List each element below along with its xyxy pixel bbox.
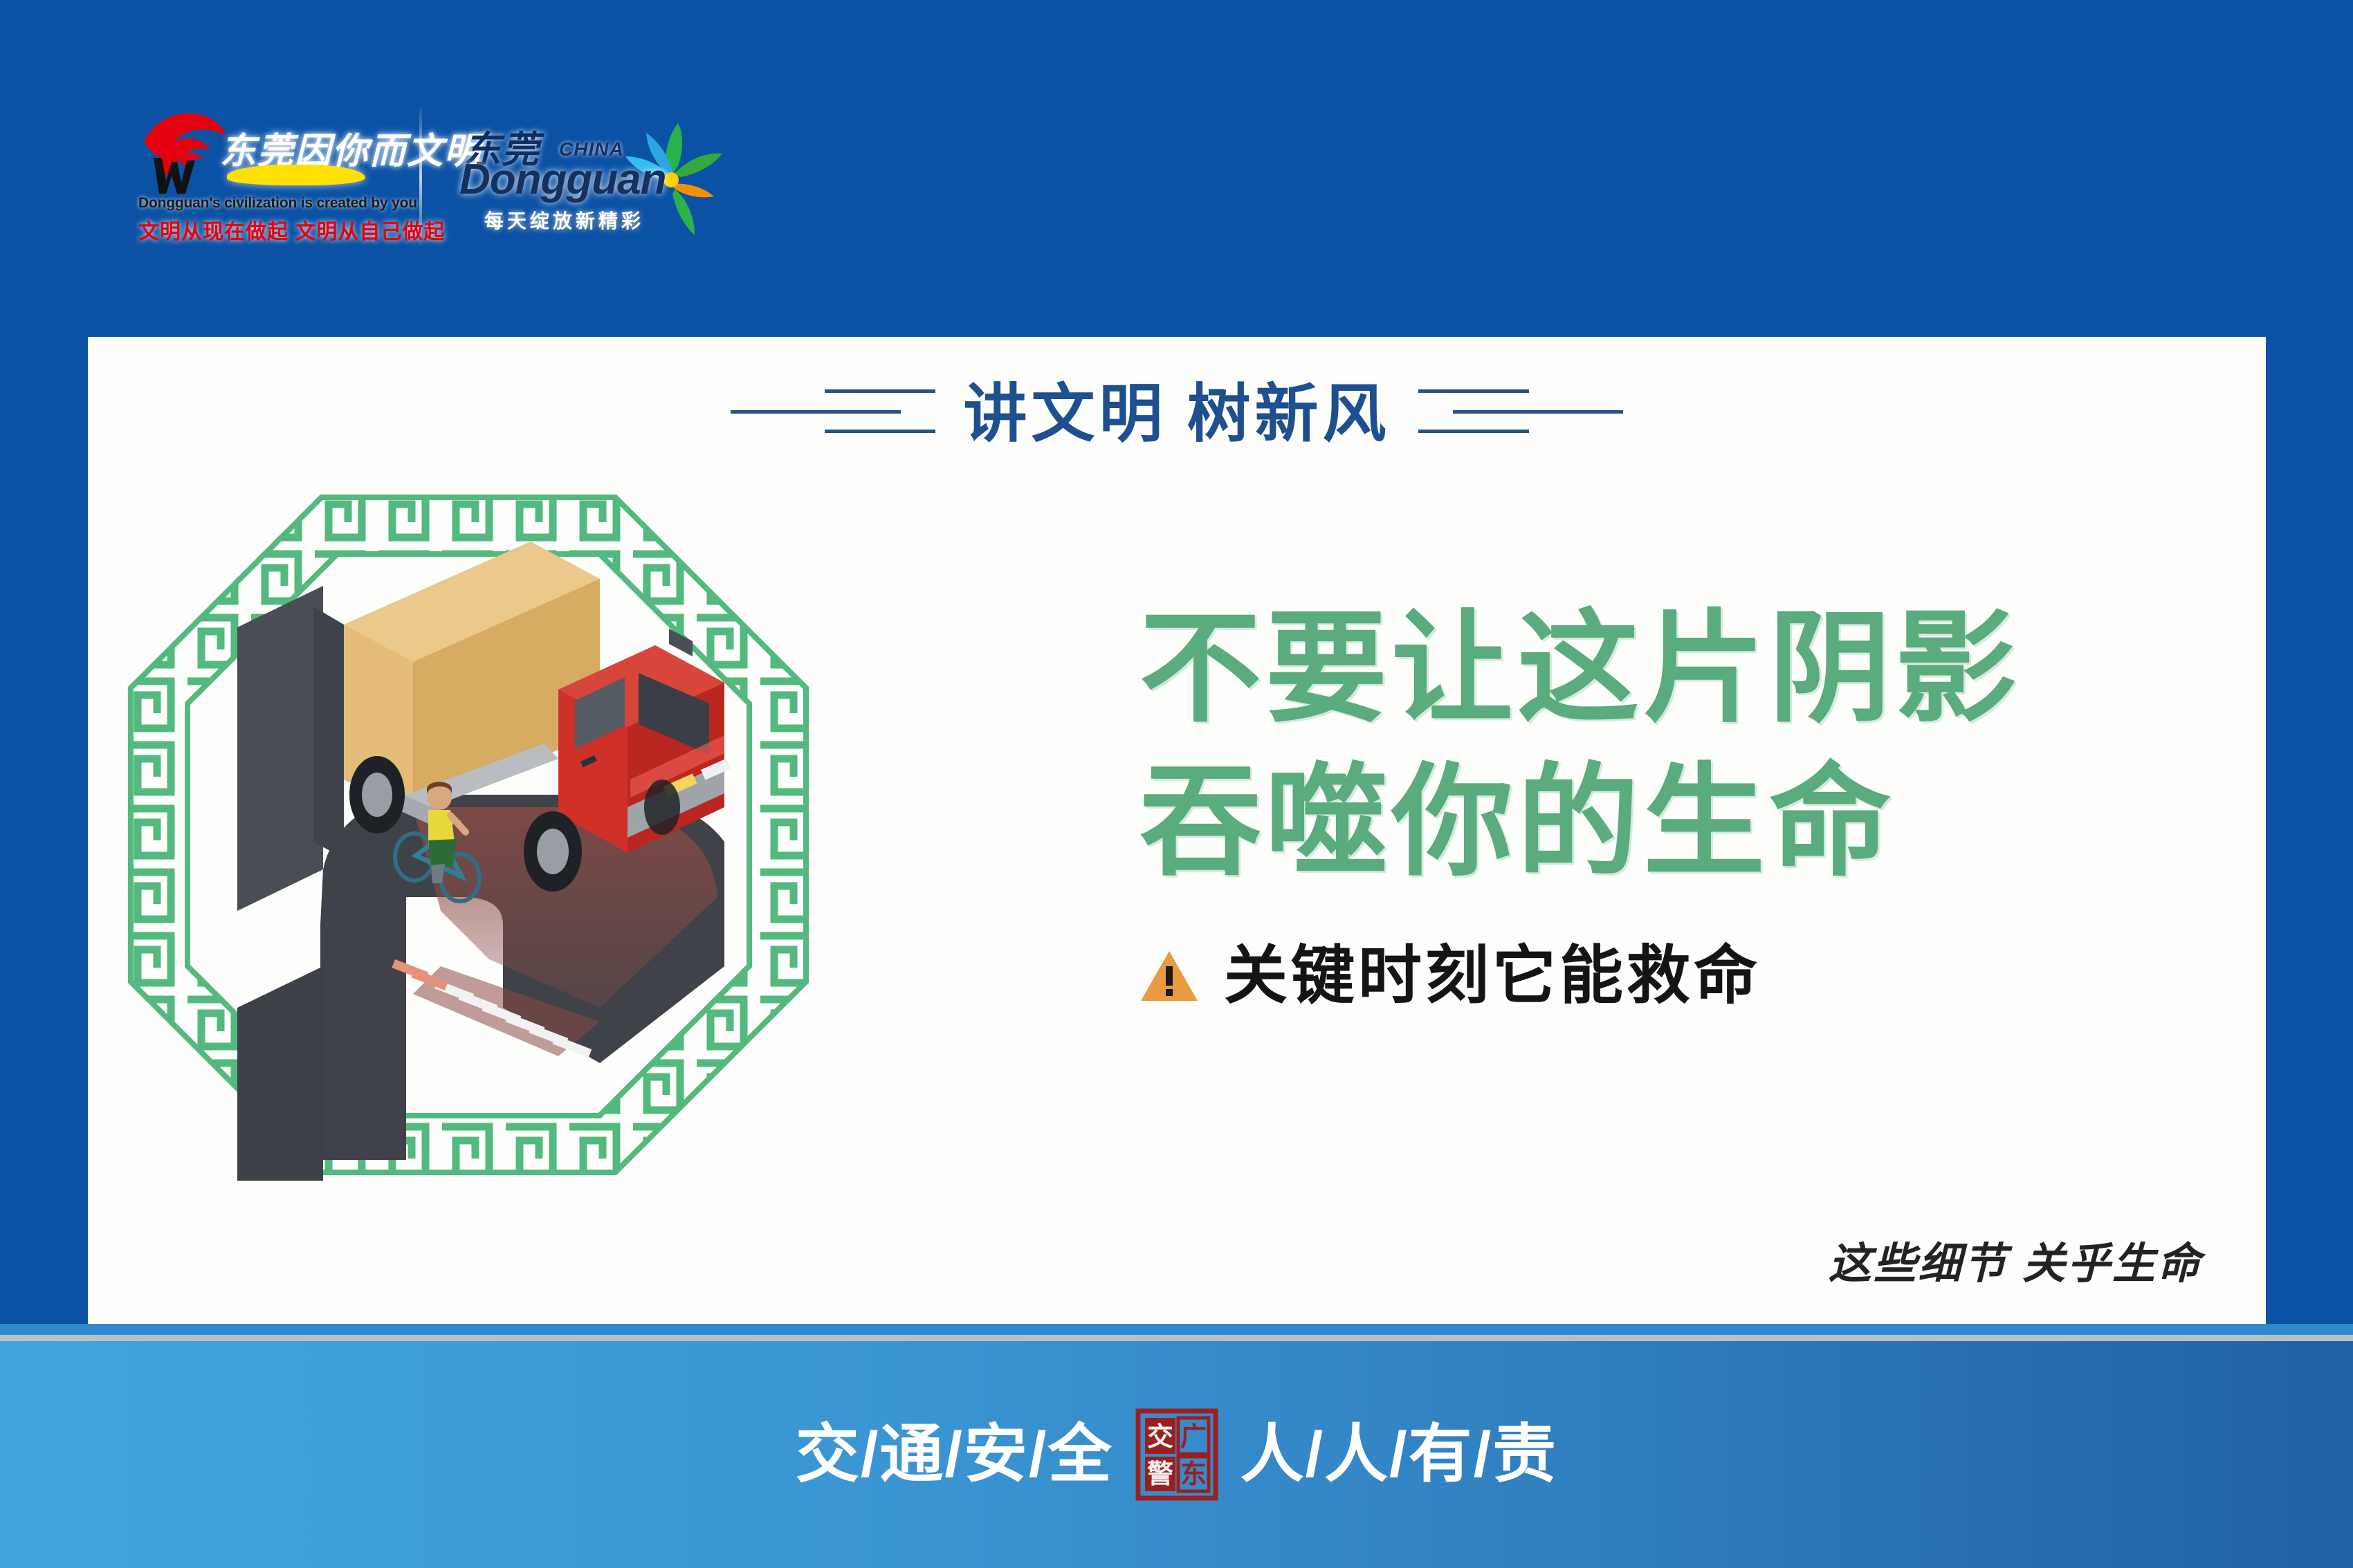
dongguan-civilization-logo: 东莞因你而文明 Dongguan's civilization is creat… [138,104,387,249]
wm-ribbon-mark-icon [138,107,228,196]
header-logo-bar: 东莞因你而文明 Dongguan's civilization is creat… [138,97,717,256]
warning-triangle-icon [1139,948,1199,1004]
panel-footnote: 这些细节 关乎生命 [1829,1228,2202,1291]
seal-cell-4: 东 [1180,1460,1206,1489]
civilization-chinese-tagline: 文明从现在做起 文明从自己做起 [138,214,387,245]
banner-right-text: 人/人/有/责 [1240,1423,1558,1486]
road-slab-lower [237,966,323,1181]
truck-blind-spot-illustration [116,482,821,1188]
subline-row: 关键时刻它能救命 [1139,944,2219,1008]
headline-line-2: 吞噬你的生命 [1139,746,2219,900]
poster-root: 东莞因你而文明 Dongguan's civilization is creat… [0,0,2353,1568]
headline-line-1: 不要让这片阴影 [1139,593,2219,746]
content-panel: 讲文明 树新风 [88,337,2266,1324]
separator-grey-line [0,1335,2353,1341]
seal-cell-3: 警 [1146,1460,1173,1489]
decorative-lines-left-icon [731,380,938,449]
banner-left-text: 交/通/安/全 [796,1423,1113,1486]
subline-text: 关键时刻它能救命 [1224,944,1761,1008]
city-english-name: Dongguan [459,155,666,204]
road-slab-upper [237,586,323,911]
decorative-lines-right-icon [1416,380,1623,449]
city-tagline: 每天绽放新精彩 [484,206,644,234]
dongguan-city-logo: 东莞 CHINA Dongguan 每天绽放新精彩 [454,102,717,251]
civilization-yellow-swoosh [227,165,365,185]
seal-cell-2: 广 [1180,1423,1206,1452]
bottom-banner: 交/通/安/全 交 广 警 东 人/人/有/责 [0,1341,2353,1568]
slogan-header: 讲文明 树新风 [88,380,2266,449]
headline-block: 不要让这片阴影 吞噬你的生命 关键时刻它能救命 [1139,593,2219,1008]
civilization-english-tagline: Dongguan's civilization is created by yo… [138,195,387,212]
slogan-text: 讲文明 树新风 [963,382,1390,446]
seal-cell-1: 交 [1146,1422,1173,1452]
guangdong-traffic-police-seal-icon: 交 广 警 东 [1134,1407,1220,1502]
